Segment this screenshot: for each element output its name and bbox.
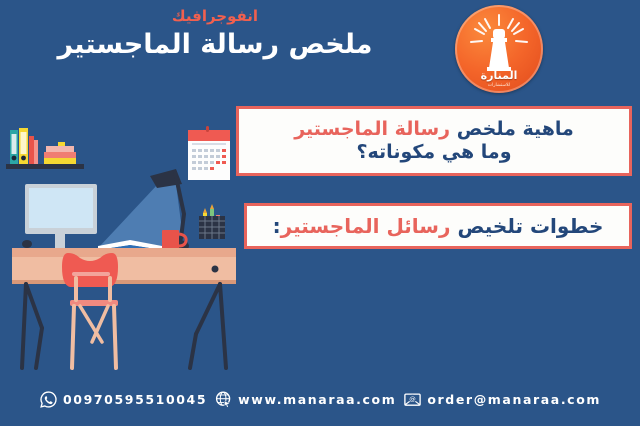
callout-2-highlight: رسائل الماجستير xyxy=(281,214,451,238)
brand-logo[interactable]: المنارة للاستشارات xyxy=(455,5,543,93)
study-desk-illustration xyxy=(0,96,240,378)
wooden-desk xyxy=(12,248,236,368)
callout-2-suffix: : xyxy=(273,214,281,238)
computer-mouse xyxy=(22,240,32,248)
infographic-poster: انفوجرافيك ملخص رسالة الماجستير المنارة xyxy=(0,0,640,426)
red-chair xyxy=(62,253,118,368)
footer-email-text: order@manaraa.com xyxy=(427,392,601,407)
page-title: ملخص رسالة الماجستير xyxy=(0,29,430,60)
footer-item-phone[interactable]: 00970595510045 xyxy=(39,390,207,409)
stacked-books xyxy=(44,142,76,164)
pencil-holder xyxy=(199,204,225,239)
footer-phone-text: 00970595510045 xyxy=(63,392,207,407)
footer-item-website[interactable]: www.manaraa.com xyxy=(214,390,396,409)
callout-1-prefix: ماهية ملخص xyxy=(450,118,574,140)
callout-2-line-1: خطوات تلخيص رسائل الماجستير: xyxy=(273,214,604,238)
callout-2-prefix: خطوات تلخيص xyxy=(451,214,604,238)
callout-1-line-1: ماهية ملخص رسالة الماجستير xyxy=(294,118,574,141)
wall-calendar xyxy=(188,126,230,180)
desktop-monitor xyxy=(25,184,97,253)
wall-shelf-group xyxy=(6,128,84,169)
email-envelope-icon: @ xyxy=(403,390,422,409)
contact-footer: 00970595510045 www.manaraa.com @ order@m… xyxy=(0,383,640,415)
callout-box-steps[interactable]: خطوات تلخيص رسائل الماجستير: xyxy=(244,203,632,249)
kicker-label: انفوجرافيك xyxy=(0,8,430,25)
globe-cursor-icon xyxy=(214,390,233,409)
callout-1-line-2: وما هي مكوناته؟ xyxy=(357,141,512,164)
svg-text:@: @ xyxy=(410,395,417,403)
callout-box-question[interactable]: ماهية ملخص رسالة الماجستير وما هي مكونات… xyxy=(236,106,632,176)
wall-shelf xyxy=(6,164,84,169)
footer-item-email[interactable]: @ order@manaraa.com xyxy=(403,390,601,409)
ring-binders xyxy=(10,128,38,164)
logo-wordmark: المنارة xyxy=(455,70,543,81)
footer-website-text: www.manaraa.com xyxy=(238,392,396,407)
logo-subtitle: للاستشارات xyxy=(455,84,543,89)
callout-1-highlight: رسالة الماجستير xyxy=(294,118,450,140)
whatsapp-icon xyxy=(39,390,58,409)
header-block: انفوجرافيك ملخص رسالة الماجستير xyxy=(0,8,430,60)
